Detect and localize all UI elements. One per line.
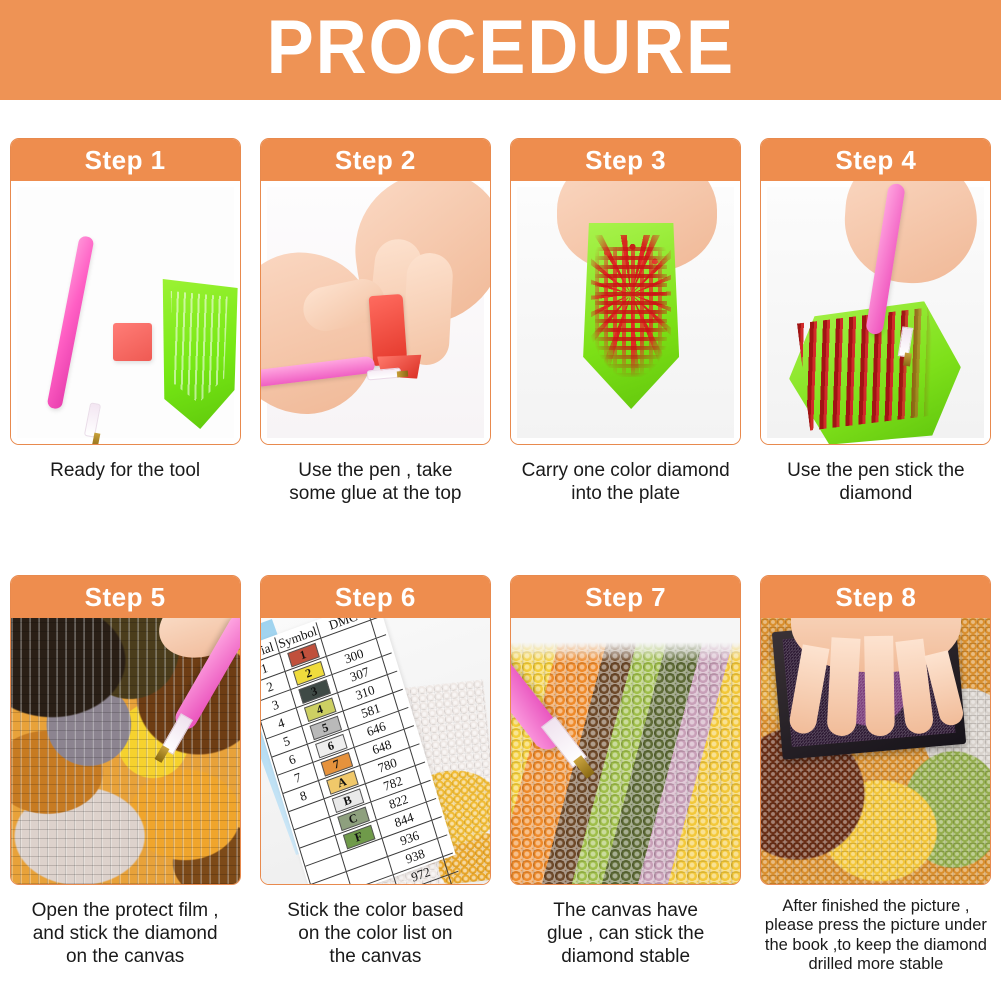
step-card-3[interactable]: Step 3 (510, 138, 741, 445)
step-header-label-8: Step 8 (835, 582, 916, 613)
step-card-2[interactable]: Step 2 (260, 138, 491, 445)
step-header-label-3: Step 3 (585, 145, 666, 176)
step-cell-5: Step 5 Open the protect film , and stick… (0, 575, 250, 975)
step-photo-2 (261, 181, 490, 444)
page-banner: PROCEDURE (0, 0, 1001, 100)
step-header-1: Step 1 (11, 139, 240, 181)
pen-glue-plate-photo (17, 187, 234, 438)
step-caption-1: Ready for the tool (7, 459, 243, 482)
hand-icon (841, 181, 982, 287)
step-caption-4: Use the pen stick the diamond (758, 459, 994, 505)
pen-picking-diamond-photo (767, 187, 984, 438)
step-cell-1: Step 1 Ready for the tool (0, 138, 250, 505)
color-chart-photo: Serial Symbol DMC 1122300333074431055581… (261, 618, 490, 884)
step-header-8: Step 8 (761, 576, 990, 618)
step-card-4[interactable]: Step 4 (760, 138, 991, 445)
step-card-8[interactable]: Step 8 (760, 575, 991, 885)
step-header-4: Step 4 (761, 139, 990, 181)
pen-nib-icon (397, 371, 408, 378)
step-caption-7: The canvas have glue , can stick the dia… (508, 899, 744, 969)
sunflower-canvas-photo (11, 618, 240, 884)
procedure-infographic: PROCEDURE Step 1 (0, 0, 1001, 1001)
step-caption-3: Carry one color diamond into the plate (508, 459, 744, 505)
step-card-1[interactable]: Step 1 (10, 138, 241, 445)
blank-canvas-strip-icon (511, 618, 740, 662)
red-diamonds-texture-icon (595, 247, 667, 377)
step-header-7: Step 7 (511, 576, 740, 618)
finger-icon (402, 252, 454, 366)
step-card-7[interactable]: Step 7 (510, 575, 741, 885)
step-cell-3: Step 3 Carry one color diamond into the … (501, 138, 751, 505)
red-glue-pad-icon (368, 294, 407, 366)
step-photo-4 (761, 181, 990, 444)
step-cell-6: Step 6 Serial Symbol DMC (250, 575, 500, 975)
round-beads-photo (511, 618, 740, 884)
step-photo-8 (761, 618, 990, 884)
step-card-5[interactable]: Step 5 (10, 575, 241, 885)
step-caption-6: Stick the color based on the color list … (257, 899, 493, 969)
step-header-6: Step 6 (261, 576, 490, 618)
finger-icon (865, 636, 896, 736)
pressing-book-photo (761, 618, 990, 884)
step-header-label-5: Step 5 (85, 582, 166, 613)
step-header-3: Step 3 (511, 139, 740, 181)
step-cell-7: Step 7 The canvas have glue , can stick … (501, 575, 751, 975)
step-caption-5: Open the protect film , and stick the di… (7, 899, 243, 969)
step-caption-2: Use the pen , take some glue at the top (257, 459, 493, 505)
step-card-6[interactable]: Step 6 Serial Symbol DMC (260, 575, 491, 885)
steps-row-bottom: Step 5 Open the protect film , and stick… (0, 575, 1001, 975)
step-header-label-7: Step 7 (585, 582, 666, 613)
step-caption-8: After finished the picture , please pres… (751, 897, 1001, 975)
step-photo-6: Serial Symbol DMC 1122300333074431055581… (261, 618, 490, 884)
step-photo-1 (11, 181, 240, 444)
step-cell-8: Step 8 After finished (751, 575, 1001, 975)
step-cell-2: Step 2 U (250, 138, 500, 505)
step-header-label-6: Step 6 (335, 582, 416, 613)
glue-square-icon (113, 323, 152, 361)
step-photo-7 (511, 618, 740, 884)
diamond-mosaic-canvas-icon (11, 618, 240, 884)
finger-icon (827, 637, 861, 736)
step-header-label-2: Step 2 (335, 145, 416, 176)
pink-pen-icon (46, 235, 94, 410)
step-header-label-4: Step 4 (835, 145, 916, 176)
step-photo-3 (511, 181, 740, 444)
steps-row-top: Step 1 Ready for the tool (0, 138, 1001, 505)
plate-with-diamonds-photo (517, 187, 734, 438)
step-photo-5 (11, 618, 240, 884)
hands-glue-photo (267, 187, 484, 438)
step-cell-4: Step 4 Use the pen stick the diamond (751, 138, 1001, 505)
step-header-label-1: Step 1 (85, 145, 166, 176)
step-header-2: Step 2 (261, 139, 490, 181)
page-title: PROCEDURE (266, 10, 734, 90)
step-header-5: Step 5 (11, 576, 240, 618)
